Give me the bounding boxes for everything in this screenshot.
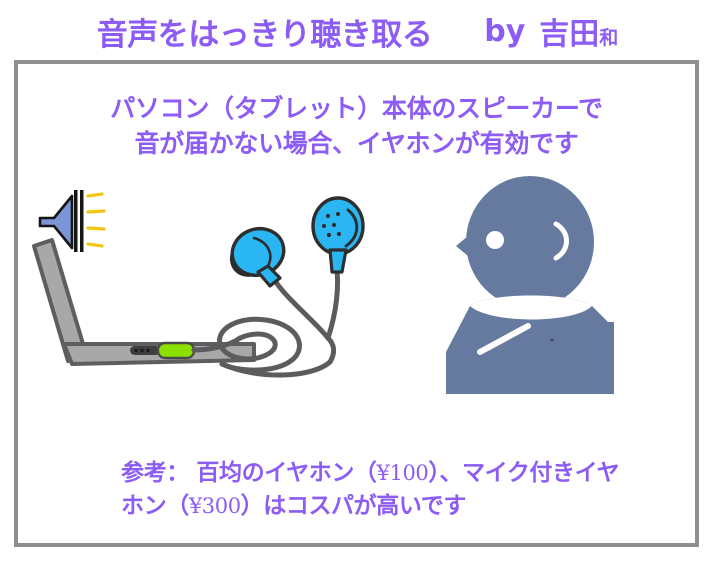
speaker-sound-rays [88, 194, 104, 246]
byline-label: by [484, 14, 525, 49]
footnote-line-1-a: 参考： 百均のイヤホン（ [121, 460, 377, 486]
author-name-suffix: 和 [599, 27, 618, 49]
footnote-line-2-b: ）はコスパが高いです [241, 493, 466, 519]
page-title: 音声をはっきり聴き取る [97, 9, 433, 54]
footnote-line-1: 参考： 百均のイヤホン（¥100）、マイク付きイヤ [121, 457, 681, 490]
headline-line-1: パソコン（タブレット）本体のスピーカーで [18, 92, 695, 127]
author-name: 吉田和 [539, 9, 618, 53]
footnote-line-2: ホン（¥300）はコスパが高いです [121, 490, 681, 523]
illustration [18, 174, 703, 464]
footnote-line-1-b: ）、マイク付きイヤ [428, 460, 619, 486]
headline-line-2: 音が届かない場合、イヤホンが有効です [18, 127, 695, 162]
headline-text: パソコン（タブレット）本体のスピーカーで 音が届かない場合、イヤホンが有効です [18, 92, 695, 161]
earbud-right [313, 198, 363, 272]
price-300: ¥300 [189, 494, 241, 518]
earbud-left [226, 222, 290, 286]
author-name-main: 吉田 [539, 17, 599, 52]
content-panel: パソコン（タブレット）本体のスピーカーで 音が届かない場合、イヤホンが有効です [14, 60, 699, 547]
footnote-line-2-a: ホン（ [121, 493, 189, 519]
person-silhouette [446, 176, 614, 394]
footnote-text: 参考： 百均のイヤホン（¥100）、マイク付きイヤ ホン（¥300）はコスパが高… [121, 457, 681, 522]
price-100: ¥100 [377, 461, 429, 485]
page-title-row: 音声をはっきり聴き取る by 吉田和 [0, 8, 715, 54]
person-eye [486, 231, 504, 249]
